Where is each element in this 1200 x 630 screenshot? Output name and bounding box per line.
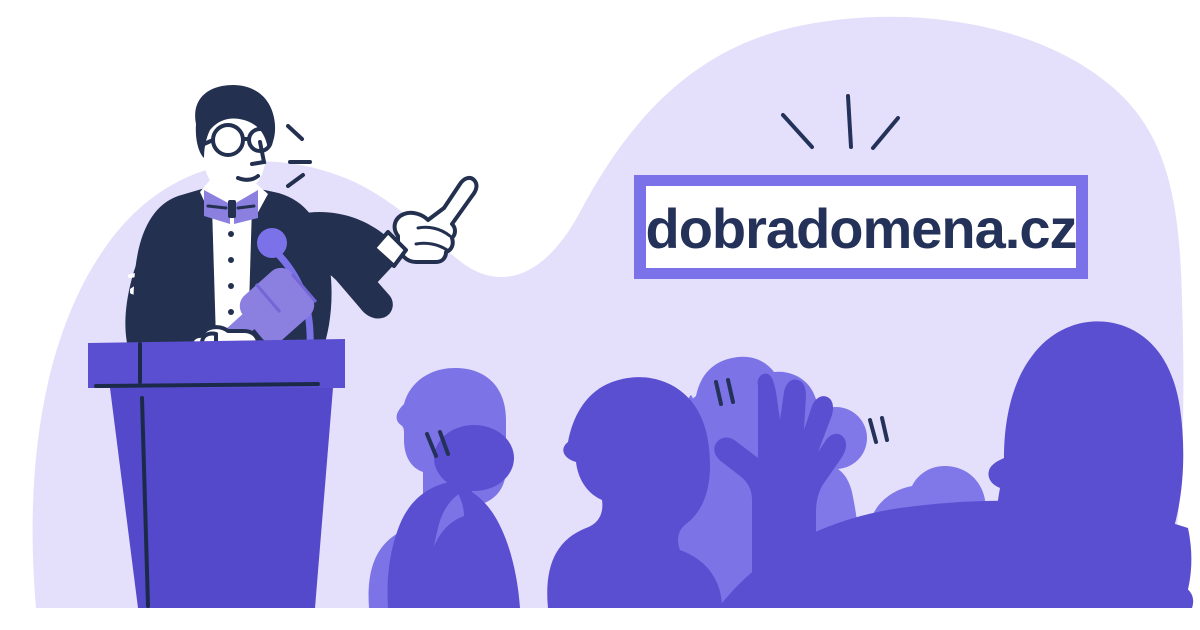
podium-top-slab	[88, 339, 345, 388]
bowtie-knot	[228, 200, 236, 218]
bowtie-line-left	[208, 206, 226, 208]
podium-line-horizontal	[96, 384, 318, 386]
illustration-canvas: dobradomena.cz	[0, 0, 1200, 630]
microphone-head	[257, 228, 287, 258]
bowtie-line-right	[238, 206, 254, 208]
audience-paddle	[434, 425, 514, 491]
speech-line-top	[288, 126, 302, 139]
domain-name-text: dobradomena.cz	[646, 197, 1077, 260]
auction-scene-illustration: dobradomena.cz	[0, 0, 1200, 630]
bottom-white-strip	[0, 608, 1200, 630]
